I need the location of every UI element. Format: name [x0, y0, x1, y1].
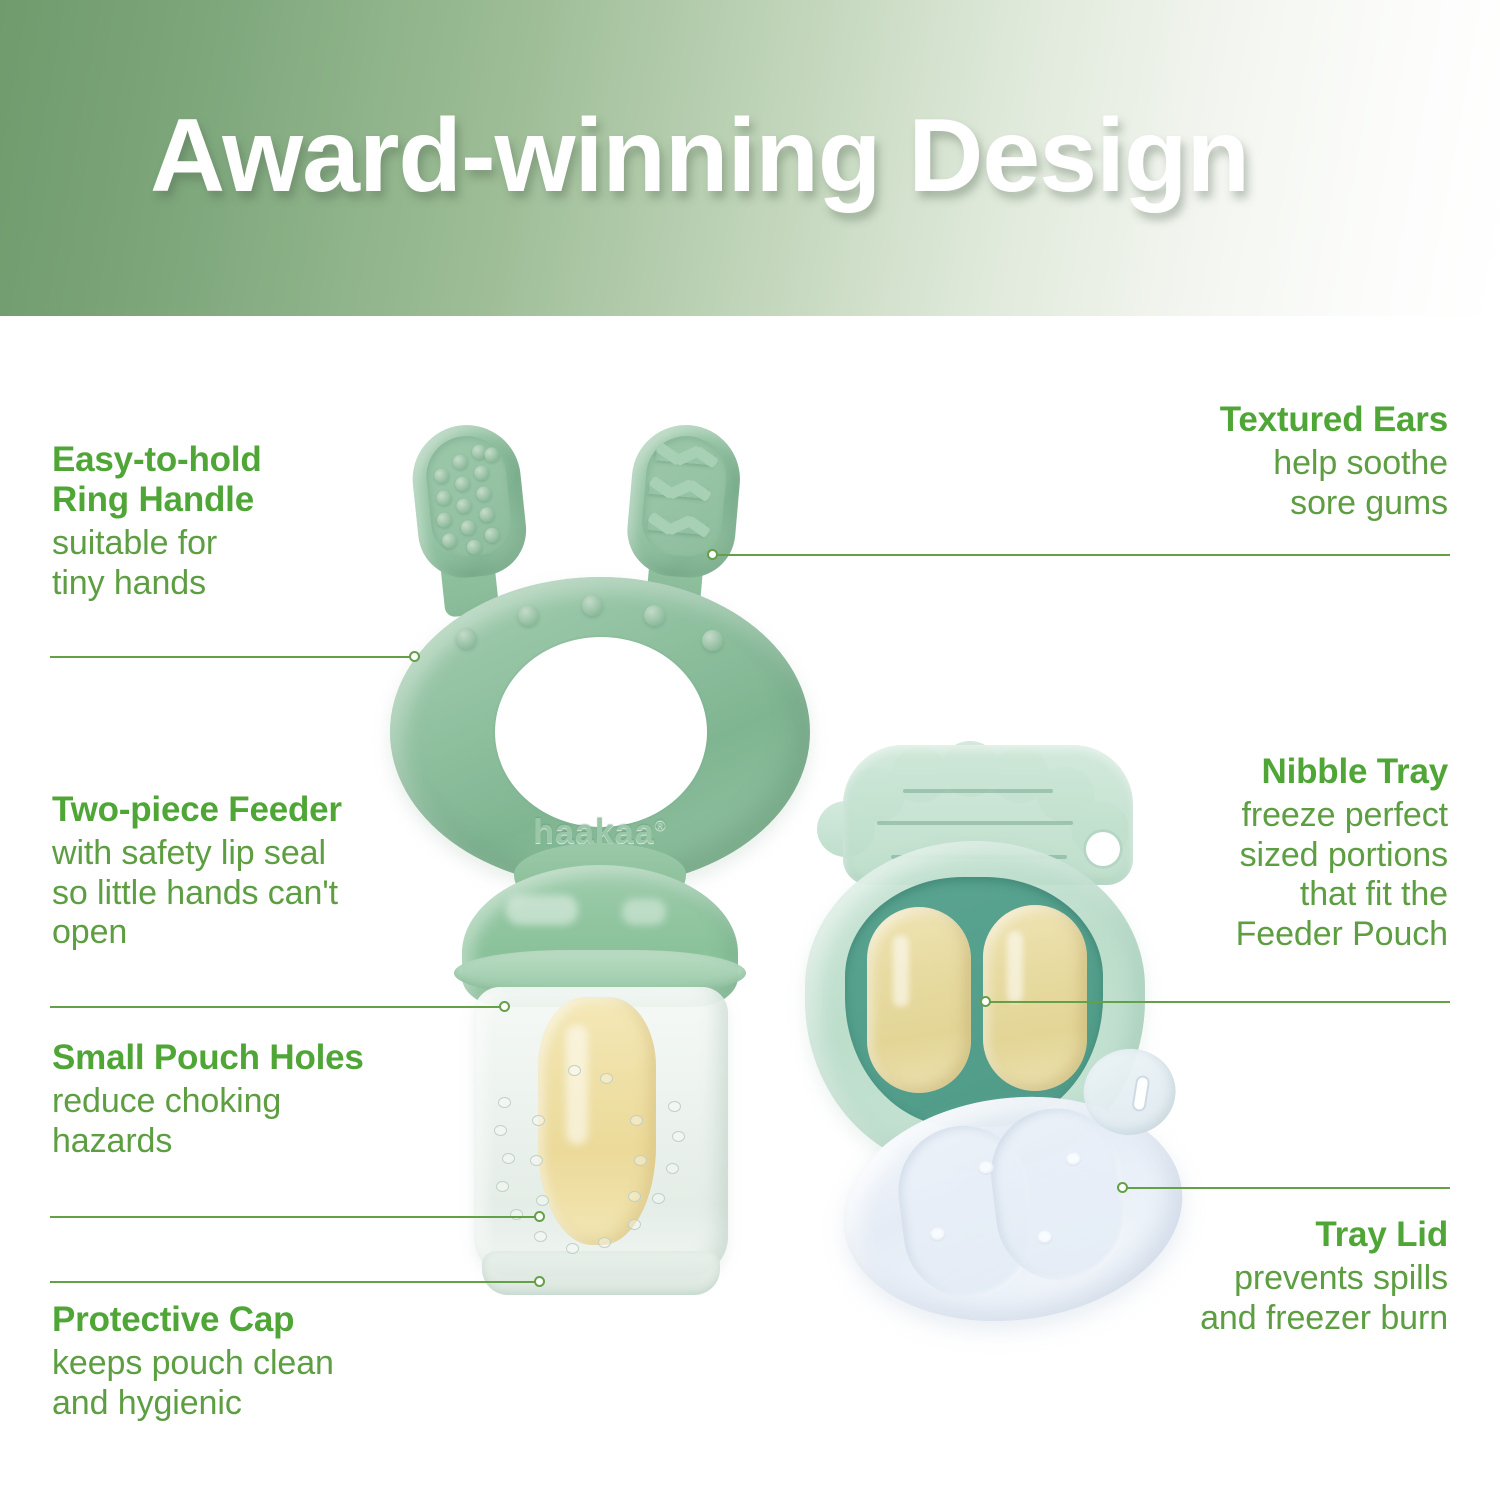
leader-endpoint-dot [409, 651, 420, 662]
cap-highlight [622, 899, 666, 925]
callout-tray-lid: Tray Lid prevents spills and freezer bur… [1018, 1215, 1448, 1338]
leader-line-small-pouch-holes [50, 1215, 540, 1218]
left-ear-texture-panel [422, 432, 514, 560]
callout-subtitle: help soothe sore gums [1018, 444, 1448, 524]
leader-bar [50, 1281, 540, 1283]
ring-nub [644, 605, 665, 626]
callout-small-pouch-holes: Small Pouch Holes reduce choking hazards [52, 1038, 432, 1161]
ring-handle-opening [495, 637, 707, 827]
leader-line-textured-ears [712, 553, 1450, 556]
ring-nub [582, 595, 603, 616]
infographic-canvas: Award-winning Design [0, 0, 1500, 1500]
callout-title: Protective Cap [52, 1300, 432, 1340]
leader-bar [1122, 1187, 1450, 1189]
frozen-portion-left [867, 907, 971, 1093]
callout-subtitle: prevents spills and freezer burn [1018, 1259, 1448, 1339]
right-ear-texture-panel [639, 433, 729, 560]
left-textured-ear [407, 420, 530, 582]
leader-line-nibble-tray [985, 1000, 1450, 1003]
leader-endpoint-dot [1117, 1182, 1128, 1193]
registered-mark: ® [655, 818, 667, 835]
callout-subtitle: freeze perfect sized portions that fit t… [1018, 796, 1448, 955]
callout-title: Tray Lid [1018, 1215, 1448, 1255]
callout-title: Nibble Tray [1018, 752, 1448, 792]
leader-bar [50, 1216, 540, 1218]
callout-title: Small Pouch Holes [52, 1038, 432, 1078]
leader-endpoint-dot [707, 549, 718, 560]
callout-subtitle: suitable for tiny hands [52, 524, 412, 604]
bunny-fruit-feeder-illustration: haakaa® [390, 425, 810, 1325]
callout-title: Easy-to-hold Ring Handle [52, 440, 412, 520]
leader-bar [712, 554, 1450, 556]
callout-subtitle: reduce choking hazards [52, 1082, 432, 1162]
right-textured-ear [624, 421, 745, 582]
callout-title: Textured Ears [1018, 400, 1448, 440]
page-title: Award-winning Design [150, 104, 1249, 208]
leader-line-ring-handle [50, 655, 415, 658]
callout-nibble-tray: Nibble Tray freeze perfect sized portion… [1018, 752, 1448, 955]
leader-bar [985, 1001, 1450, 1003]
leader-bar [50, 656, 415, 658]
pouch-base [482, 1251, 720, 1295]
leader-endpoint-dot [534, 1276, 545, 1287]
leader-endpoint-dot [499, 1001, 510, 1012]
ring-nub [518, 605, 539, 626]
callout-subtitle: keeps pouch clean and hygienic [52, 1344, 432, 1424]
leader-line-tray-lid [1122, 1186, 1450, 1189]
leader-endpoint-dot [534, 1211, 545, 1222]
callout-easy-to-hold-ring-handle: Easy-to-hold Ring Handle suitable for ti… [52, 440, 412, 603]
callout-two-piece-feeder: Two-piece Feeder with safety lip seal so… [52, 790, 432, 953]
callout-subtitle: with safety lip seal so little hands can… [52, 834, 432, 953]
ring-nub [702, 630, 723, 651]
leader-line-two-piece-feeder [50, 1005, 505, 1008]
leader-line-protective-cap [50, 1280, 540, 1283]
callout-protective-cap: Protective Cap keeps pouch clean and hyg… [52, 1300, 432, 1423]
callout-textured-ears: Textured Ears help soothe sore gums [1018, 400, 1448, 523]
cap-highlight [506, 895, 578, 925]
food-highlight [566, 1025, 588, 1145]
header-banner: Award-winning Design [0, 0, 1500, 316]
leader-bar [50, 1006, 505, 1008]
leader-endpoint-dot [980, 996, 991, 1007]
callout-title: Two-piece Feeder [52, 790, 432, 830]
ring-nub [456, 628, 477, 649]
